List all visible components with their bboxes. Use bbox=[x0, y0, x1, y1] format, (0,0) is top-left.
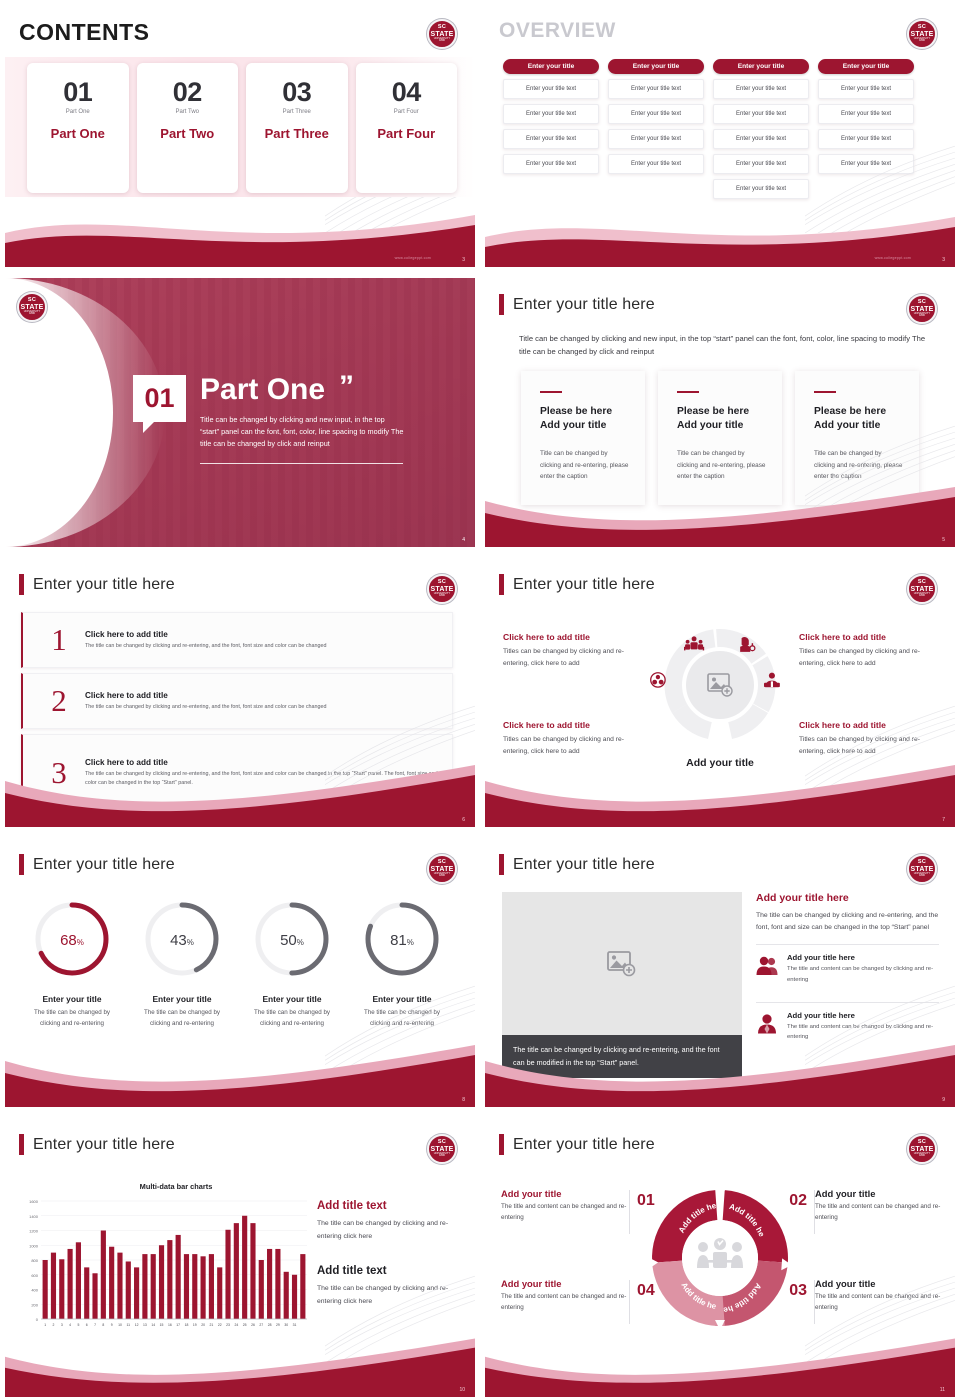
page-title: Enter your title here bbox=[513, 576, 655, 594]
lead-paragraph: Title can be changed by clicking and new… bbox=[485, 324, 955, 359]
quadrant-text: Titles can be changed by clicking and re… bbox=[503, 734, 641, 757]
divider bbox=[200, 463, 403, 464]
svg-text:2: 2 bbox=[53, 1323, 55, 1327]
chart-container: Multi-data bar charts 020040060080010001… bbox=[11, 1170, 311, 1340]
page-title: Enter your title here bbox=[33, 856, 175, 874]
svg-text:25: 25 bbox=[243, 1323, 247, 1327]
seal-line4: 1896 bbox=[439, 595, 445, 598]
overview-columns: Enter your title Enter your title text E… bbox=[485, 49, 955, 199]
block-heading: Add title text bbox=[317, 1265, 463, 1277]
svg-text:23: 23 bbox=[226, 1323, 230, 1327]
row-number: 1 bbox=[33, 625, 85, 654]
overview-item[interactable]: Enter your title text bbox=[503, 154, 599, 174]
row-text: The title can be changed by clicking and… bbox=[85, 642, 327, 651]
donut-label: Enter your title bbox=[349, 994, 455, 1004]
donut-stat[interactable]: 81% Enter your title The title can be ch… bbox=[349, 898, 455, 1030]
card-heading-line1: Please be here bbox=[677, 406, 749, 417]
svg-text:1: 1 bbox=[44, 1323, 46, 1327]
slide-donut-stats: Enter your title here SC STATE UNIVERSIT… bbox=[0, 835, 480, 1110]
card-text: Title can be changed by clicking and re-… bbox=[814, 448, 903, 482]
seal-wrap: SC STATE UNIVERSITY 1896 bbox=[17, 292, 47, 322]
divider bbox=[756, 1002, 939, 1003]
row-heading: Click here to add title bbox=[85, 630, 327, 639]
quadrant-text: Titles can be changed by clicking and re… bbox=[503, 646, 641, 669]
card-number: 01 bbox=[27, 79, 129, 106]
info-card[interactable]: Please be here Add your title Title can … bbox=[795, 371, 919, 505]
item-heading: Add your title here bbox=[787, 1011, 939, 1020]
cycle-heading: Add your title bbox=[501, 1188, 627, 1199]
multi-data-bar-chart: 0200400600800100012001400160012345678910… bbox=[11, 1195, 311, 1335]
svg-text:29: 29 bbox=[276, 1323, 280, 1327]
quadrant-heading: Click here to add title bbox=[799, 632, 937, 642]
photo-block[interactable]: The title can be changed by clicking and… bbox=[502, 892, 742, 1078]
title-accent-bar bbox=[499, 1134, 504, 1155]
donut-value: 43 bbox=[170, 932, 187, 949]
radial-segments-graphic bbox=[642, 622, 798, 748]
page-title: OVERVIEW bbox=[499, 19, 616, 43]
overview-item[interactable]: Enter your title text bbox=[608, 154, 704, 174]
sc-state-university-seal-icon: SC STATE UNIVERSITY 1896 bbox=[427, 1134, 457, 1164]
donut-chart-68: 68% bbox=[31, 898, 113, 980]
seal-line4: 1896 bbox=[439, 40, 445, 43]
overview-item[interactable]: Enter your title text bbox=[608, 129, 704, 149]
radial-center: Add your title bbox=[639, 622, 801, 769]
column-title-pill[interactable]: Enter your title bbox=[818, 59, 914, 74]
slide-photo-and-list: Enter your title here SC STATE UNIVERSIT… bbox=[480, 835, 960, 1110]
cycle-heading: Add your title bbox=[815, 1188, 941, 1199]
overview-item[interactable]: Enter your title text bbox=[503, 129, 599, 149]
donut-stat[interactable]: 43% Enter your title The title can be ch… bbox=[129, 898, 235, 1030]
title-accent-bar bbox=[499, 854, 504, 875]
cycle-text: The title and content can be changed and… bbox=[815, 1292, 941, 1313]
svg-text:20: 20 bbox=[201, 1323, 205, 1327]
donut-unit: % bbox=[77, 938, 84, 947]
sc-state-university-seal-icon: SC STATE UNIVERSITY 1896 bbox=[427, 574, 457, 604]
cycle-layout: Add your title The title and content can… bbox=[485, 1168, 955, 1348]
donut-list: 68% Enter your title The title can be ch… bbox=[5, 884, 475, 1030]
cycle-text-03[interactable]: Add your title The title and content can… bbox=[815, 1278, 941, 1313]
contents-card[interactable]: 02 Part Two Part Two bbox=[137, 63, 239, 193]
slide-header: Enter your title here SC STATE UNIVERSIT… bbox=[5, 558, 475, 604]
svg-text:81%: 81% bbox=[390, 932, 414, 949]
quadrant-text: Titles can be changed by clicking and re… bbox=[799, 646, 937, 669]
info-card[interactable]: Please be here Add your title Title can … bbox=[521, 371, 645, 505]
cover-content: 01 Part One ” Title can be changed by cl… bbox=[133, 375, 405, 464]
seal-line4: 1896 bbox=[29, 313, 35, 316]
svg-text:6: 6 bbox=[86, 1323, 88, 1327]
svg-text:22: 22 bbox=[218, 1323, 222, 1327]
numbered-rows: 1 Click here to add title The title can … bbox=[5, 604, 475, 812]
seal-line4: 1896 bbox=[919, 595, 925, 598]
page-number: 4 bbox=[462, 537, 465, 543]
svg-text:1200: 1200 bbox=[29, 1229, 39, 1234]
svg-text:3: 3 bbox=[61, 1323, 63, 1327]
donut-value: 81 bbox=[390, 932, 407, 949]
sc-state-university-seal-icon: SC STATE UNIVERSITY 1896 bbox=[907, 1134, 937, 1164]
card-heading-line2: Add your title bbox=[540, 420, 606, 431]
contents-card[interactable]: 04 Part Four Part Four bbox=[356, 63, 458, 193]
page-number: 6 bbox=[462, 817, 465, 823]
svg-text:19: 19 bbox=[193, 1323, 197, 1327]
part-title: Part One bbox=[200, 375, 325, 405]
overview-item[interactable]: Enter your title text bbox=[713, 129, 809, 149]
radial-text-bottom-right[interactable]: Click here to add title Titles can be ch… bbox=[799, 720, 937, 757]
image-placeholder[interactable] bbox=[502, 892, 742, 1035]
cycle-heading: Add your title bbox=[501, 1278, 627, 1289]
svg-text:1400: 1400 bbox=[29, 1214, 39, 1219]
person-circle-icon bbox=[651, 673, 665, 687]
seal-line4: 1896 bbox=[919, 40, 925, 43]
svg-text:15: 15 bbox=[160, 1323, 164, 1327]
svg-text:12: 12 bbox=[135, 1323, 139, 1327]
overview-column: Enter your title Enter your title text E… bbox=[818, 59, 914, 199]
cycle-arrows-graphic: Add title here Add title here Add title … bbox=[630, 1178, 810, 1338]
card-heading-line1: Please be here bbox=[540, 406, 612, 417]
footer-url: www.collegeppt.com bbox=[395, 256, 431, 260]
donut-chart-81: 81% bbox=[361, 898, 443, 980]
svg-text:7: 7 bbox=[94, 1323, 96, 1327]
svg-text:13: 13 bbox=[143, 1323, 147, 1327]
donut-label: Enter your title bbox=[129, 994, 235, 1004]
slide-header: Enter your title here SC STATE UNIVERSIT… bbox=[485, 278, 955, 324]
seal-line4: 1896 bbox=[919, 315, 925, 318]
contents-card[interactable]: 01 Part One Part One bbox=[27, 63, 129, 193]
card-subtitle: Part One bbox=[27, 109, 129, 115]
svg-text:4: 4 bbox=[69, 1323, 71, 1327]
card-text: Title can be changed by clicking and re-… bbox=[677, 448, 766, 482]
row-number: 3 bbox=[33, 758, 85, 787]
svg-text:27: 27 bbox=[259, 1323, 263, 1327]
title-accent-bar bbox=[499, 294, 504, 315]
page-number: 5 bbox=[942, 537, 945, 543]
donut-text: The title can be changed by clicking and… bbox=[239, 1008, 345, 1030]
slide-contents: CONTENTS SC STATE UNIVERSITY 1896 01 Par… bbox=[0, 0, 480, 270]
block-text: The title can be changed by clicking and… bbox=[317, 1283, 463, 1308]
page-number: 8 bbox=[462, 1097, 465, 1103]
card-number: 04 bbox=[356, 79, 458, 106]
overview-column: Enter your title Enter your title text E… bbox=[503, 59, 599, 199]
two-people-icon bbox=[756, 955, 778, 977]
donut-unit: % bbox=[297, 938, 304, 947]
svg-text:0: 0 bbox=[36, 1317, 39, 1322]
title-accent-bar bbox=[499, 574, 504, 595]
card-subtitle: Part Three bbox=[246, 109, 348, 115]
radial-text-bottom-left[interactable]: Click here to add title Titles can be ch… bbox=[503, 720, 641, 757]
svg-text:1000: 1000 bbox=[29, 1243, 39, 1248]
donut-text: The title can be changed by clicking and… bbox=[129, 1008, 235, 1030]
page-title: CONTENTS bbox=[19, 19, 150, 46]
svg-text:14: 14 bbox=[151, 1323, 155, 1327]
slide-part-one-cover: SC STATE UNIVERSITY 1896 01 Part One ” T… bbox=[0, 275, 480, 550]
overview-item[interactable]: Enter your title text bbox=[608, 79, 704, 99]
svg-text:200: 200 bbox=[31, 1302, 38, 1307]
single-person-icon bbox=[756, 1013, 778, 1035]
overview-item[interactable]: Enter your title text bbox=[818, 79, 914, 99]
svg-text:43%: 43% bbox=[170, 932, 194, 949]
list-item[interactable]: Add your title here The title and conten… bbox=[756, 1011, 939, 1049]
overview-item[interactable]: Enter your title text bbox=[713, 104, 809, 124]
slide-cycle-diagram: Enter your title here SC STATE UNIVERSIT… bbox=[480, 1115, 960, 1400]
card-text: Title can be changed by clicking and re-… bbox=[540, 448, 629, 482]
overview-item[interactable]: Enter your title text bbox=[818, 104, 914, 124]
donut-text: The title can be changed by clicking and… bbox=[19, 1008, 125, 1030]
row-heading: Click here to add title bbox=[85, 758, 442, 767]
card-name: Part One bbox=[27, 126, 129, 141]
center-title: Add your title bbox=[639, 757, 801, 769]
seal-line4: 1896 bbox=[919, 875, 925, 878]
overview-item[interactable]: Enter your title text bbox=[713, 79, 809, 99]
page-title: Enter your title here bbox=[513, 856, 655, 874]
page-title: Enter your title here bbox=[33, 576, 175, 594]
block-text: The title can be changed by clicking and… bbox=[317, 1218, 463, 1243]
list-item[interactable]: Add your title here The title and conten… bbox=[756, 953, 939, 991]
cycle-text-01[interactable]: Add your title The title and content can… bbox=[501, 1188, 627, 1223]
donut-text: The title can be changed by clicking and… bbox=[349, 1008, 455, 1030]
cycle-text-02[interactable]: Add your title The title and content can… bbox=[815, 1188, 941, 1223]
svg-text:9: 9 bbox=[111, 1323, 113, 1327]
card-heading-line2: Add your title bbox=[814, 420, 880, 431]
card-dash bbox=[540, 391, 562, 394]
overview-column: Enter your title Enter your title text E… bbox=[608, 59, 704, 199]
part-body-text: Title can be changed by clicking and new… bbox=[200, 414, 405, 449]
list-item[interactable]: 2 Click here to add title The title can … bbox=[21, 673, 453, 729]
chart-side-text: Add title text The title can be changed … bbox=[311, 1170, 463, 1340]
svg-text:600: 600 bbox=[31, 1273, 38, 1278]
svg-text:24: 24 bbox=[234, 1323, 238, 1327]
sc-state-university-seal-icon: SC STATE UNIVERSITY 1896 bbox=[907, 854, 937, 884]
contents-card[interactable]: 03 Part Three Part Three bbox=[246, 63, 348, 193]
chart-title: Multi-data bar charts bbox=[41, 1182, 311, 1191]
donut-label: Enter your title bbox=[19, 994, 125, 1004]
slide-header: Enter your title here SC STATE UNIVERSIT… bbox=[5, 838, 475, 884]
title-accent-bar bbox=[19, 574, 24, 595]
wave-footer bbox=[5, 1333, 475, 1397]
slide-header: Enter your title here SC STATE UNIVERSIT… bbox=[485, 558, 955, 604]
row-heading: Click here to add title bbox=[85, 691, 327, 700]
cycle-text: The title and content can be changed and… bbox=[815, 1202, 941, 1223]
divider bbox=[756, 944, 939, 945]
seal-line4: 1896 bbox=[439, 1155, 445, 1158]
row-number: 2 bbox=[33, 686, 85, 715]
slide-header: Enter your title here SC STATE UNIVERSIT… bbox=[485, 1118, 955, 1164]
card-name: Part Two bbox=[137, 126, 239, 141]
overview-item[interactable]: Enter your title text bbox=[818, 154, 914, 174]
card-dash bbox=[677, 391, 699, 394]
donut-value: 68 bbox=[60, 932, 77, 949]
card-heading-line1: Please be here bbox=[814, 406, 886, 417]
right-panel: Add your title here The title can be cha… bbox=[756, 892, 939, 1078]
svg-text:11: 11 bbox=[127, 1323, 131, 1327]
donut-stat[interactable]: 68% Enter your title The title can be ch… bbox=[19, 898, 125, 1030]
cycle-heading: Add your title bbox=[815, 1278, 941, 1289]
overview-item[interactable]: Enter your title text bbox=[713, 154, 809, 174]
sc-state-university-seal-icon: SC STATE UNIVERSITY 1896 bbox=[907, 574, 937, 604]
page-number: 3 bbox=[942, 257, 945, 263]
chart-row: Multi-data bar charts 020040060080010001… bbox=[5, 1164, 475, 1340]
svg-text:5: 5 bbox=[77, 1323, 79, 1327]
donut-value: 50 bbox=[280, 932, 297, 949]
sc-state-university-seal-icon: SC STATE UNIVERSITY 1896 bbox=[427, 854, 457, 884]
slide-overview: OVERVIEW SC STATE UNIVERSITY 1896 Enter … bbox=[480, 0, 960, 270]
page-number: 10 bbox=[459, 1387, 465, 1393]
svg-text:8: 8 bbox=[102, 1323, 104, 1327]
item-text: The title and content can be changed by … bbox=[787, 964, 939, 984]
card-number: 02 bbox=[137, 79, 239, 106]
donut-label: Enter your title bbox=[239, 994, 345, 1004]
card-name: Part Four bbox=[356, 126, 458, 141]
row-text: The title can be changed by clicking and… bbox=[85, 770, 442, 787]
page-title: Enter your title here bbox=[513, 1136, 655, 1154]
overview-item[interactable]: Enter your title text bbox=[713, 179, 809, 199]
page-number: 3 bbox=[462, 257, 465, 263]
card-list: Please be here Add your title Title can … bbox=[485, 359, 955, 505]
svg-text:50%: 50% bbox=[280, 932, 304, 949]
donut-chart-43: 43% bbox=[141, 898, 223, 980]
overview-item[interactable]: Enter your title text bbox=[503, 104, 599, 124]
overview-item[interactable]: Enter your title text bbox=[818, 129, 914, 149]
svg-text:28: 28 bbox=[268, 1323, 272, 1327]
svg-text:17: 17 bbox=[176, 1323, 180, 1327]
list-item[interactable]: 1 Click here to add title The title can … bbox=[21, 612, 453, 668]
column-title-pill[interactable]: Enter your title bbox=[608, 59, 704, 74]
page-number: 7 bbox=[942, 817, 945, 823]
row-text: The title can be changed by clicking and… bbox=[85, 703, 327, 712]
cycle-text: The title and content can be changed and… bbox=[501, 1292, 627, 1313]
seal-line4: 1896 bbox=[439, 875, 445, 878]
sc-state-university-seal-icon: SC STATE UNIVERSITY 1896 bbox=[427, 19, 457, 49]
card-subtitle: Part Two bbox=[137, 109, 239, 115]
svg-text:18: 18 bbox=[185, 1323, 189, 1327]
quote-mark-icon: ” bbox=[339, 375, 354, 399]
column-title-pill[interactable]: Enter your title bbox=[503, 59, 599, 74]
cycle-text: The title and content can be changed and… bbox=[501, 1202, 627, 1223]
page-title: Enter your title here bbox=[33, 1136, 175, 1154]
card-subtitle: Part Four bbox=[356, 109, 458, 115]
card-dash bbox=[814, 391, 836, 394]
quadrant-text: Titles can be changed by clicking and re… bbox=[799, 734, 937, 757]
sc-state-university-seal-icon: SC STATE UNIVERSITY 1896 bbox=[907, 19, 937, 49]
quadrant-heading: Click here to add title bbox=[799, 720, 937, 730]
footer-url: www.collegeppt.com bbox=[875, 256, 911, 260]
slide-bar-chart: Enter your title here SC STATE UNIVERSIT… bbox=[0, 1115, 480, 1400]
svg-text:16: 16 bbox=[168, 1323, 172, 1327]
page-number: 11 bbox=[940, 1387, 945, 1393]
svg-text:26: 26 bbox=[251, 1323, 255, 1327]
contents-header: CONTENTS SC STATE UNIVERSITY 1896 bbox=[5, 3, 475, 49]
card-name: Part Three bbox=[246, 126, 348, 141]
page-number: 9 bbox=[942, 1097, 945, 1103]
card-heading-line2: Add your title bbox=[677, 420, 743, 431]
title-accent-bar bbox=[19, 1134, 24, 1155]
content-row: The title can be changed by clicking and… bbox=[485, 884, 955, 1078]
title-accent-bar bbox=[19, 854, 24, 875]
slide-numbered-list: Enter your title here SC STATE UNIVERSIT… bbox=[0, 555, 480, 830]
donut-chart-50: 50% bbox=[251, 898, 333, 980]
info-card[interactable]: Please be here Add your title Title can … bbox=[658, 371, 782, 505]
donut-unit: % bbox=[187, 938, 194, 947]
photo-caption: The title can be changed by clicking and… bbox=[502, 1035, 742, 1078]
overview-item[interactable]: Enter your title text bbox=[608, 104, 704, 124]
column-title-pill[interactable]: Enter your title bbox=[713, 59, 809, 74]
sc-state-university-seal-icon: SC STATE UNIVERSITY 1896 bbox=[907, 294, 937, 324]
page-title: Enter your title here bbox=[513, 296, 655, 314]
card-number: 03 bbox=[246, 79, 348, 106]
cycle-text-04[interactable]: Add your title The title and content can… bbox=[501, 1278, 627, 1313]
slide-radial-diagram: Enter your title here SC STATE UNIVERSIT… bbox=[480, 555, 960, 830]
list-item[interactable]: 3 Click here to add title The title can … bbox=[21, 734, 453, 812]
wave-footer bbox=[5, 1043, 475, 1107]
quadrant-heading: Click here to add title bbox=[503, 632, 641, 642]
radial-layout: Click here to add title Titles can be ch… bbox=[485, 608, 955, 788]
slide-header: Enter your title here SC STATE UNIVERSIT… bbox=[5, 1118, 475, 1164]
overview-header: OVERVIEW SC STATE UNIVERSITY 1896 bbox=[485, 3, 955, 49]
svg-text:68%: 68% bbox=[60, 932, 84, 949]
right-text: The title can be changed by clicking and… bbox=[756, 910, 939, 934]
image-placeholder-icon bbox=[607, 951, 637, 977]
radial-text-top-right[interactable]: Click here to add title Titles can be ch… bbox=[799, 632, 937, 669]
svg-text:31: 31 bbox=[293, 1323, 297, 1327]
slide-three-cards: Enter your title here SC STATE UNIVERSIT… bbox=[480, 275, 960, 550]
part-number-badge: 01 bbox=[133, 375, 186, 422]
right-title: Add your title here bbox=[756, 892, 939, 904]
quadrant-heading: Click here to add title bbox=[503, 720, 641, 730]
svg-text:30: 30 bbox=[284, 1323, 288, 1327]
svg-text:1600: 1600 bbox=[29, 1199, 39, 1204]
slide-header: Enter your title here SC STATE UNIVERSIT… bbox=[485, 838, 955, 884]
radial-text-top-left[interactable]: Click here to add title Titles can be ch… bbox=[503, 632, 641, 669]
item-heading: Add your title here bbox=[787, 953, 939, 962]
seal-line4: 1896 bbox=[919, 1155, 925, 1158]
item-text: The title and content can be changed by … bbox=[787, 1022, 939, 1042]
donut-unit: % bbox=[407, 938, 414, 947]
svg-text:10: 10 bbox=[118, 1323, 122, 1327]
sc-state-university-seal-icon: SC STATE UNIVERSITY 1896 bbox=[17, 292, 47, 322]
donut-stat[interactable]: 50% Enter your title The title can be ch… bbox=[239, 898, 345, 1030]
block-heading: Add title text bbox=[317, 1200, 463, 1212]
svg-text:800: 800 bbox=[31, 1258, 38, 1263]
overview-column: Enter your title Enter your title text E… bbox=[713, 59, 809, 199]
svg-text:400: 400 bbox=[31, 1288, 38, 1293]
overview-item[interactable]: Enter your title text bbox=[503, 79, 599, 99]
svg-text:21: 21 bbox=[210, 1323, 214, 1327]
